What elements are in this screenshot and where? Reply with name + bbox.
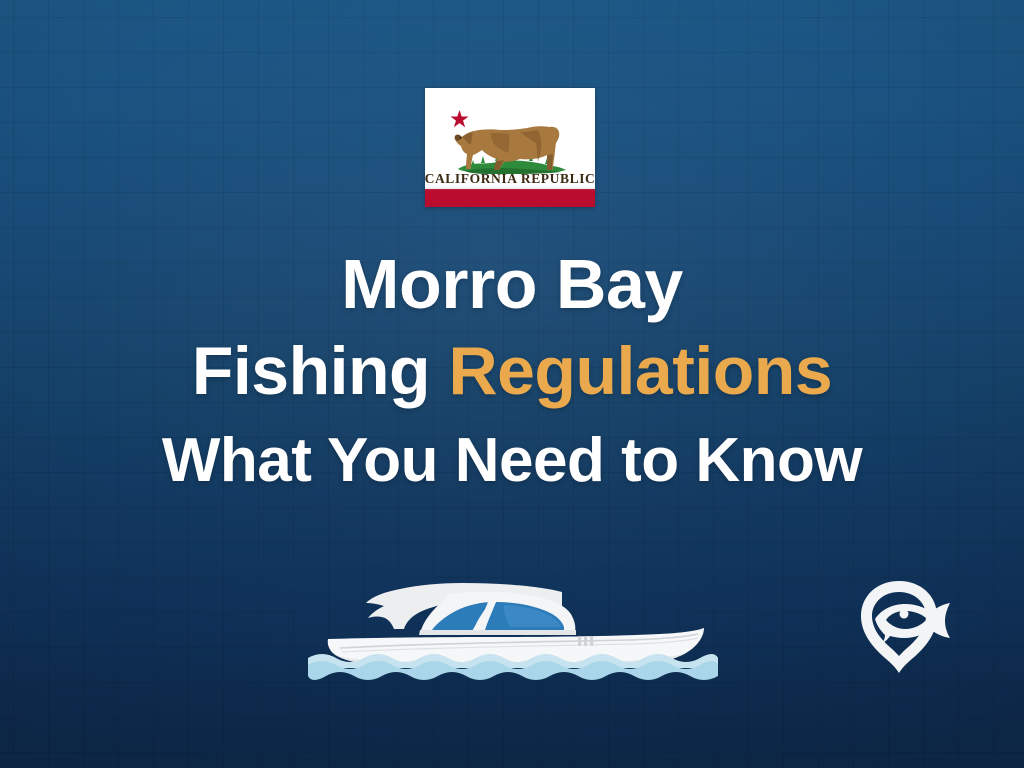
fish-eye-icon: [900, 610, 909, 619]
flag-red-stripe: [425, 189, 595, 207]
headline-line-2: Fishing Regulations: [0, 325, 1024, 417]
boat-vent-louvers: [578, 636, 593, 646]
headline-line-1: Morro Bay: [0, 243, 1024, 325]
fish-logo-icon: [851, 578, 957, 678]
headline-line-3: What You Need to Know: [0, 417, 1024, 505]
headline-line-2-accent: Regulations: [449, 333, 833, 409]
headline-block: Morro Bay Fishing Regulations What You N…: [0, 243, 1024, 505]
california-flag: CALIFORNIA REPUBLIC: [425, 88, 595, 207]
yacht-illustration: [300, 572, 720, 687]
headline-line-2-plain: Fishing: [192, 333, 449, 409]
poster-canvas: CALIFORNIA REPUBLIC Morro Bay Fishing Re…: [0, 0, 1024, 768]
california-flag-image: CALIFORNIA REPUBLIC: [425, 88, 595, 207]
boat-superstructure: [366, 583, 576, 635]
flag-motto-text: CALIFORNIA REPUBLIC: [425, 171, 595, 186]
